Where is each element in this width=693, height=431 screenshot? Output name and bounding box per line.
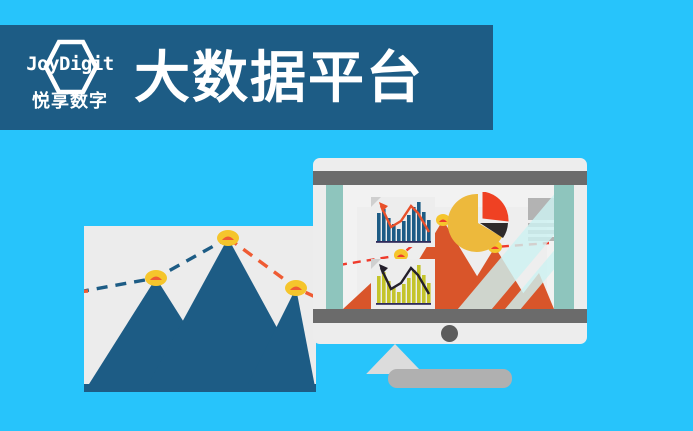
monitor-top-bar — [313, 171, 587, 185]
baseline-axis — [376, 303, 431, 305]
screen-left-strip — [326, 185, 343, 309]
logo-subtitle: 悦享数字 — [16, 93, 124, 111]
card-fold-corner — [371, 197, 381, 207]
monitor-stand-base — [388, 369, 512, 388]
baseline-axis — [376, 241, 431, 243]
monitor-bottom-bar — [313, 309, 587, 323]
dashboard-canvas — [343, 185, 554, 309]
monitor-screen — [326, 185, 574, 309]
brand-logo: JoyDigit 悦享数字 — [16, 39, 124, 119]
desktop-monitor — [313, 158, 587, 344]
logo-wordmark: JoyDigit — [16, 55, 124, 74]
poster-canvas: JoyDigit 悦享数字 大数据平台 — [0, 0, 693, 431]
left-chart-panel — [84, 226, 316, 392]
power-button-icon[interactable] — [441, 325, 458, 342]
mountain-shapes — [84, 238, 316, 392]
pie-chart — [447, 192, 509, 254]
yellow-bar-chart-card — [371, 259, 435, 309]
page-title: 大数据平台 — [134, 51, 424, 107]
left-mountain-area-chart — [84, 226, 316, 392]
header-banner: JoyDigit 悦享数字 大数据平台 — [0, 25, 493, 130]
blue-bar-chart-card — [371, 197, 435, 247]
card-fold-corner — [371, 259, 381, 269]
screen-right-strip — [554, 185, 574, 309]
